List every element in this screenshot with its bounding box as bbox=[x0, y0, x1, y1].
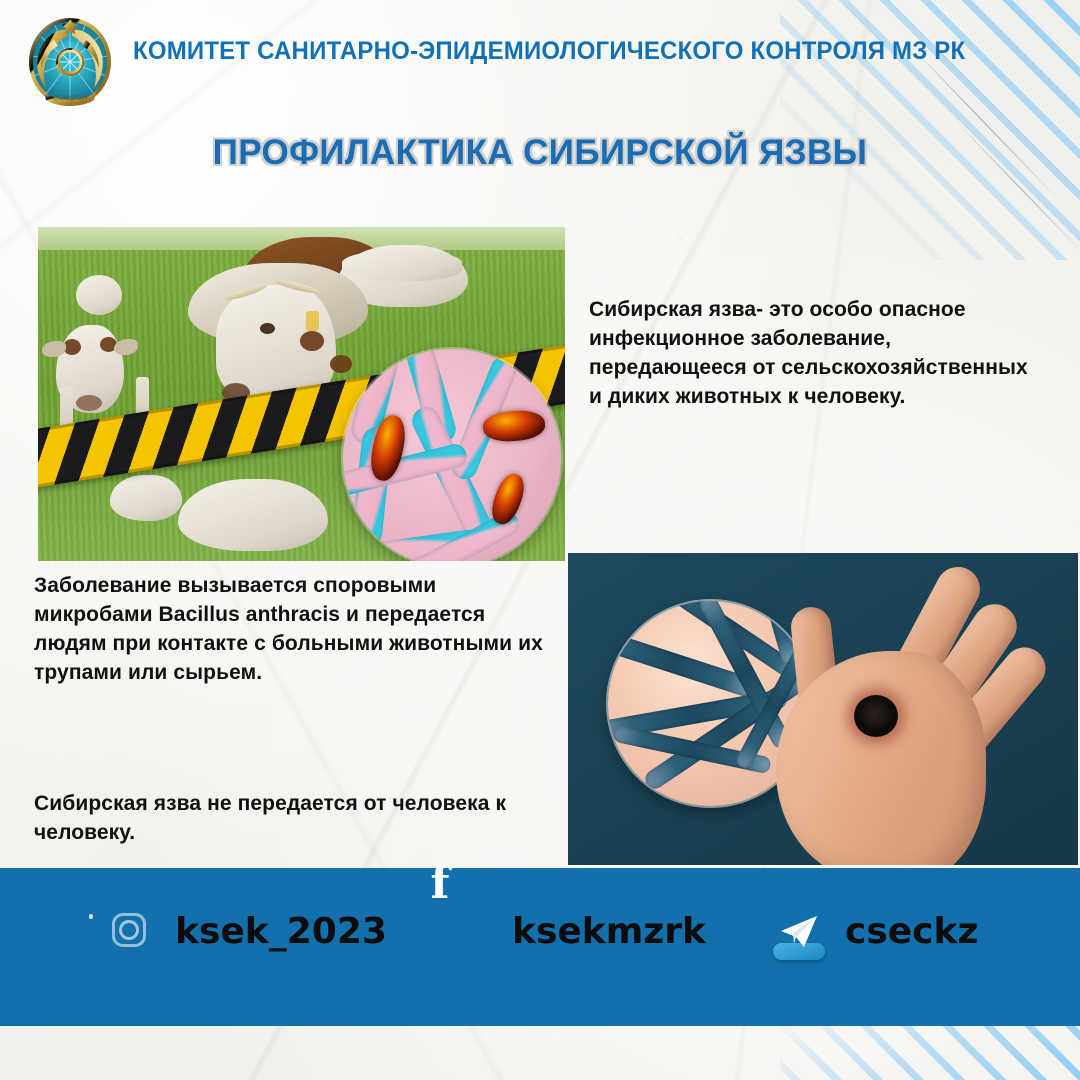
cattle-herd-photo bbox=[38, 227, 565, 561]
anthrax-spore-3 bbox=[487, 470, 529, 528]
social-link-instagram[interactable]: ksek_2023 bbox=[103, 904, 387, 959]
cause-paragraph: Заболевание вызывается споровыми микроба… bbox=[34, 572, 554, 688]
telegram-icon[interactable] bbox=[773, 904, 828, 959]
instagram-icon[interactable] bbox=[103, 904, 158, 959]
cow-center-eartag bbox=[306, 311, 319, 331]
cow-center-patch-a bbox=[300, 331, 324, 351]
no-human-transmission-paragraph: Сибирская язва не передается от человека… bbox=[34, 790, 554, 848]
kazakhstan-coat-of-arms-icon: ҚАЗАҚСТАН bbox=[24, 12, 116, 112]
eschar-lesion bbox=[854, 695, 898, 737]
anthrax-lesion-photo bbox=[568, 553, 1078, 865]
facebook-icon[interactable]: f bbox=[440, 904, 495, 959]
svg-text:ҚАЗАҚСТАН: ҚАЗАҚСТАН bbox=[53, 96, 88, 102]
social-link-facebook[interactable]: f ksekmzrk bbox=[440, 904, 706, 959]
telegram-handle: cseckz bbox=[845, 911, 978, 952]
hand-with-lesion bbox=[758, 577, 1078, 865]
poster-canvas: ҚАЗАҚСТАН КОМИТЕТ САНИТАРНО-ЭПИДЕМИОЛОГИ… bbox=[0, 0, 1080, 1080]
page-title: ПРОФИЛАКТИКА СИБИРСКОЙ ЯЗВЫ bbox=[0, 133, 1080, 173]
calf-rump bbox=[248, 489, 328, 549]
cow-left-shoulder bbox=[76, 275, 122, 315]
cow-center-patch-b bbox=[330, 355, 352, 373]
social-footer: ksek_2023 f ksekmzrk cseckz bbox=[0, 868, 1080, 1026]
cow-left-muzzle bbox=[76, 395, 102, 411]
instagram-handle: ksek_2023 bbox=[175, 911, 387, 952]
social-link-telegram[interactable]: cseckz bbox=[773, 904, 978, 959]
organization-title: КОМИТЕТ САНИТАРНО-ЭПИДЕМИОЛОГИЧЕСКОГО КО… bbox=[133, 37, 920, 66]
header: ҚАЗАҚСТАН КОМИТЕТ САНИТАРНО-ЭПИДЕМИОЛОГИ… bbox=[0, 0, 1080, 120]
facebook-handle: ksekmzrk bbox=[512, 911, 706, 952]
anthrax-micrograph-inset bbox=[343, 349, 561, 561]
intro-paragraph: Сибирская язва- это особо опасное инфекц… bbox=[589, 296, 1041, 412]
calf-head bbox=[110, 475, 182, 521]
cow-right-stripe bbox=[342, 251, 462, 281]
cow-center-eye bbox=[260, 323, 275, 334]
